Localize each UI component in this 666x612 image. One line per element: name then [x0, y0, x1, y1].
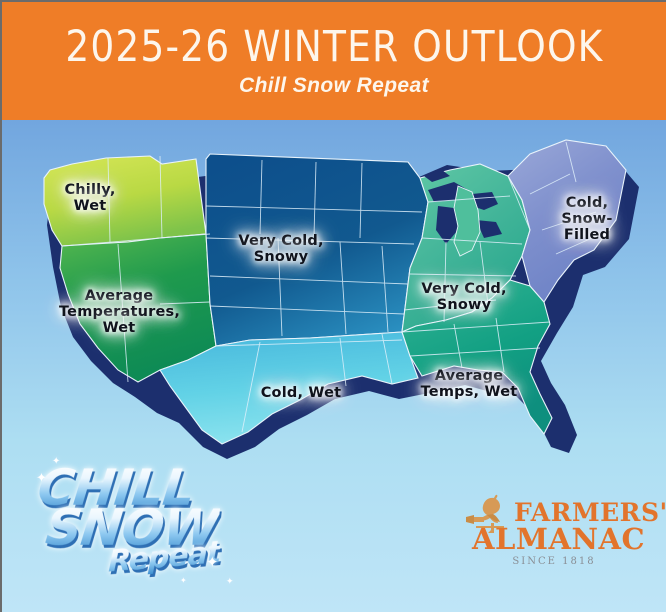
chill-snow-repeat-logo: ✦ ✦ CHILL SNOW Repeat ✦ ✦ ✦: [30, 455, 245, 590]
logo-word-repeat: Repeat: [108, 538, 220, 578]
region-pacific-northwest: [44, 156, 206, 246]
farmers-almanac-logo: FARMERS' ALMANAC SINCE 1818: [458, 492, 636, 576]
brand-name-line2: ALMANAC: [472, 525, 636, 554]
winter-outlook-poster: 2025-26 WINTER OUTLOOK Chill Snow Repeat: [0, 0, 666, 612]
region-northern-plains: [206, 154, 428, 346]
sparkle-icon: ✦: [226, 577, 234, 586]
page-subtitle: Chill Snow Repeat: [239, 75, 429, 96]
map-area: Chilly, Wet Average Temperatures, Wet Ve…: [2, 120, 666, 612]
us-outlook-map: [10, 134, 660, 474]
page-title: 2025-26 WINTER OUTLOOK: [65, 26, 603, 69]
header-banner: 2025-26 WINTER OUTLOOK Chill Snow Repeat: [2, 2, 666, 120]
sparkle-icon: ✦: [180, 577, 187, 585]
brand-since-text: SINCE 1818: [472, 556, 636, 567]
